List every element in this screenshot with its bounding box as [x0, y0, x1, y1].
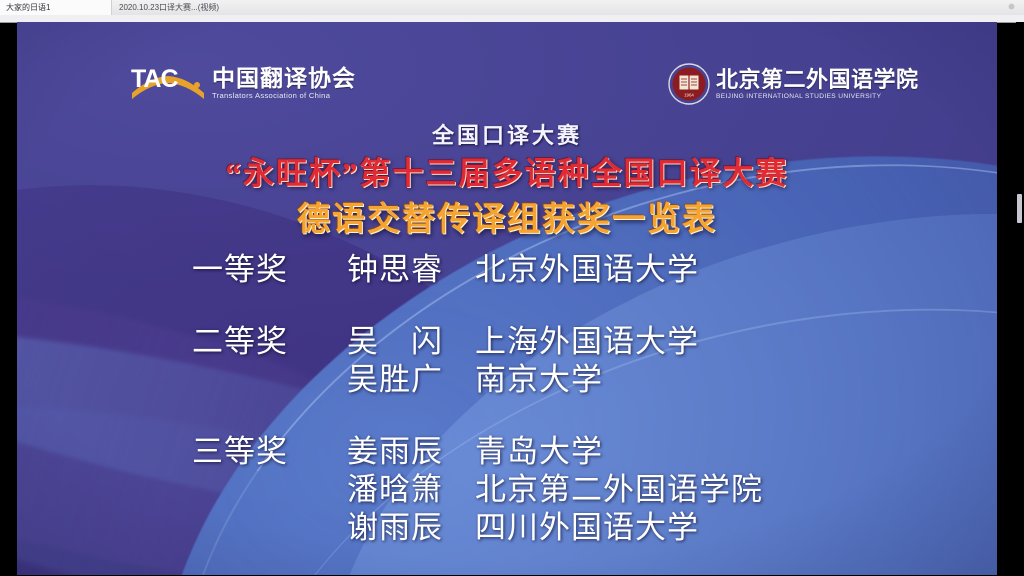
winner-name: 谢雨辰 [347, 502, 475, 547]
award-row: 二等奖 吴 闪 上海外国语大学 [17, 319, 997, 357]
tab-label: 2020.10.23口译大赛...(视频) [119, 3, 219, 12]
tac-name-en: Translators Association of China [212, 91, 356, 100]
svg-text:TAC: TAC [131, 65, 178, 93]
winner-school: 北京外国语大学 [475, 244, 699, 289]
group-spacer [17, 285, 997, 319]
vertical-scrollbar[interactable] [1016, 22, 1024, 576]
svg-text:1964: 1964 [684, 93, 694, 98]
award-row: 一等奖 钟思睿 北京外国语大学 [17, 247, 997, 285]
tac-monogram-icon: TAC [130, 61, 206, 105]
scrollbar-thumb[interactable] [1017, 194, 1022, 223]
award-rank: 二等奖 [17, 316, 347, 361]
group-spacer [17, 395, 997, 429]
bisu-logo: 1964 北京第二外国语学院 BEIJING INTERNATIONAL STU… [668, 60, 890, 108]
tab-japanese-book[interactable]: 大家的日语1 [0, 0, 112, 15]
video-player-window: 大家的日语1 2020.10.23口译大赛...(视频) [0, 0, 1024, 576]
tac-logo: TAC 中国翻译协会 Translators Association of Ch… [130, 58, 368, 108]
bisu-name-cn: 北京第二外国语学院 [716, 68, 919, 91]
winner-school: 四川外国语大学 [475, 502, 699, 547]
award-rank: 一等奖 [17, 244, 347, 289]
award-rank: 三等奖 [17, 426, 347, 471]
award-list-title: 德语交替传译组获奖一览表 [17, 192, 997, 240]
contest-subtitle: 全国口译大赛 [17, 118, 997, 150]
award-group-second: 二等奖 吴 闪 上海外国语大学 吴胜广 南京大学 [17, 319, 997, 395]
presentation-slide: TAC 中国翻译协会 Translators Association of Ch… [17, 22, 997, 575]
award-row: 吴胜广 南京大学 [17, 357, 997, 395]
contest-title: “永旺杯”第十三届多语种全国口译大赛 [17, 148, 997, 193]
winner-name: 钟思睿 [347, 244, 475, 289]
award-list: 一等奖 钟思睿 北京外国语大学 二等奖 吴 闪 上海外国语大学 吴胜广 南京大学 [17, 247, 997, 543]
tac-name-cn: 中国翻译协会 [212, 66, 356, 90]
winner-school: 南京大学 [475, 354, 603, 399]
award-row: 三等奖 姜雨辰 青岛大学 [17, 429, 997, 467]
award-group-third: 三等奖 姜雨辰 青岛大学 潘晗箫 北京第二外国语学院 谢雨辰 四川外国语大学 [17, 429, 997, 543]
award-group-first: 一等奖 钟思睿 北京外国语大学 [17, 247, 997, 285]
award-row: 潘晗箫 北京第二外国语学院 [17, 467, 997, 505]
resize-grip-icon[interactable] [1008, 3, 1015, 10]
tab-label: 大家的日语1 [6, 3, 50, 12]
browser-tabstrip: 大家的日语1 2020.10.23口译大赛...(视频) [0, 0, 1024, 16]
winner-name: 吴胜广 [347, 354, 475, 399]
bisu-seal-icon: 1964 [668, 63, 710, 105]
tab-interpreting-contest-video[interactable]: 2020.10.23口译大赛...(视频) [113, 0, 241, 15]
bisu-name-en: BEIJING INTERNATIONAL STUDIES UNIVERSITY [716, 93, 919, 100]
award-row: 谢雨辰 四川外国语大学 [17, 505, 997, 543]
